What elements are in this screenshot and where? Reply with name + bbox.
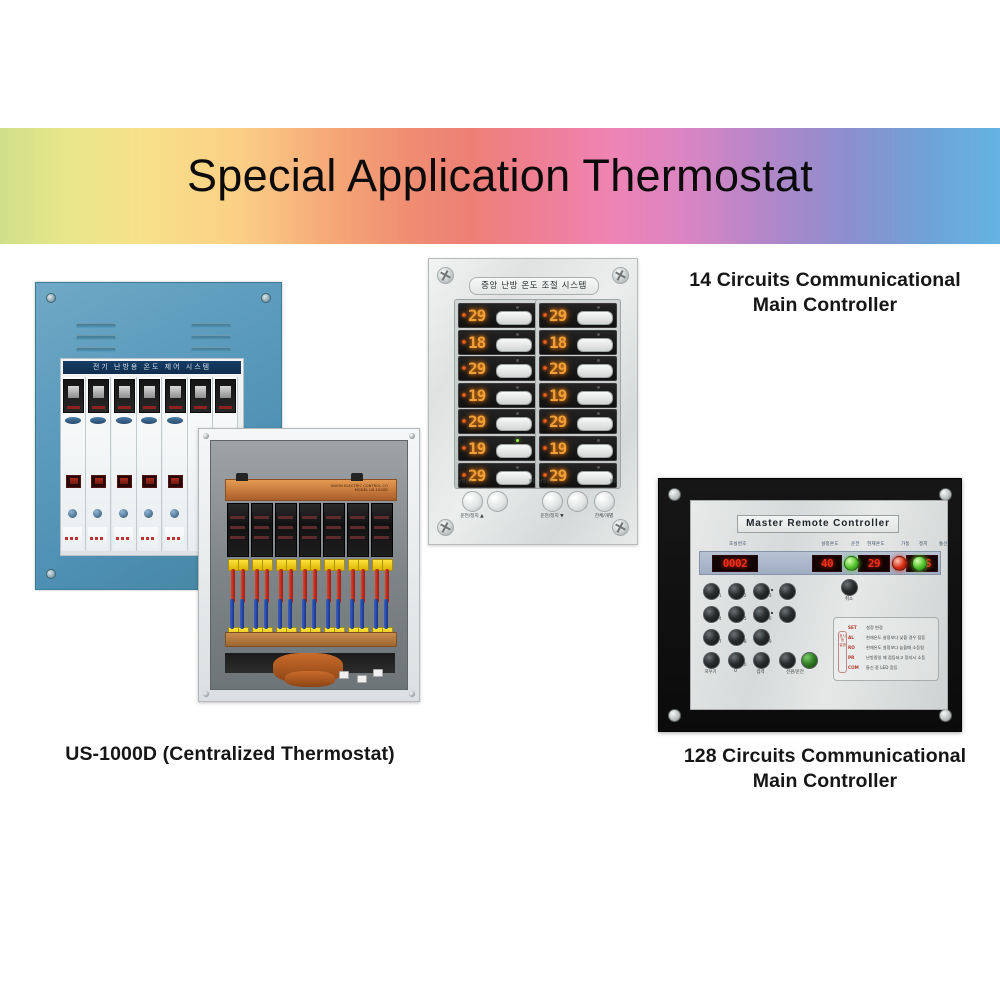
module-knob[interactable]	[144, 509, 153, 518]
relay-module[interactable]	[227, 503, 249, 557]
keypad-button-2[interactable]	[728, 583, 745, 600]
control-button[interactable]	[542, 491, 563, 512]
busbar-text-line2: MODEL US-1000D	[331, 488, 388, 492]
control-button-label: 전체/개별	[582, 513, 626, 519]
module-badge	[65, 417, 81, 424]
vent-louver-icon	[76, 347, 116, 352]
channel-button[interactable]	[577, 417, 613, 431]
temperature-value: 18	[549, 334, 566, 351]
control-button[interactable]	[462, 491, 483, 512]
function-button[interactable]	[841, 579, 858, 596]
display-label: 운전	[851, 541, 860, 547]
caption-128-line1: 128 Circuits Communicational	[650, 744, 1000, 769]
title-banner: Special Application Thermostat	[0, 128, 1000, 244]
temperature-display-row[interactable]: 29	[539, 303, 617, 328]
indicator-dot-icon	[516, 306, 519, 309]
keypad-button-number: 9	[769, 639, 772, 644]
cabinet-interior: UNION ELECTRIC CONTROL CO MODEL US-1000D	[210, 440, 408, 690]
caption-128-line2: Main Controller	[650, 769, 1000, 794]
legend-text: 설정 변경	[866, 625, 883, 631]
module-knob[interactable]	[68, 509, 77, 518]
indicator-dot-icon	[597, 359, 600, 362]
slide-root: Special Application Thermostat 14 Circui…	[0, 0, 1000, 1000]
indicator-dot-icon	[597, 466, 600, 469]
legend-text: 통신 중 LED 점등	[866, 665, 897, 671]
control-button-label: 운전/정지 ▼	[530, 513, 574, 519]
relay-module[interactable]	[371, 503, 393, 557]
red-wire	[255, 569, 259, 603]
screw-icon	[668, 488, 681, 501]
function-button[interactable]	[779, 583, 796, 600]
red-wire	[337, 569, 341, 603]
temperature-value: 29	[468, 360, 485, 377]
module-faceplate[interactable]	[88, 427, 107, 523]
display-column-right: 29182919291929난방온도설정	[535, 299, 621, 489]
breaker-switch[interactable]	[215, 379, 236, 413]
temperature-display-row[interactable]: 29	[458, 303, 536, 328]
product-image-open-cabinet: UNION ELECTRIC CONTROL CO MODEL US-1000D	[198, 428, 420, 702]
module-display	[117, 475, 132, 488]
status-led-icon	[543, 340, 547, 344]
us1000d-module[interactable]	[112, 377, 137, 551]
keypad-button-1[interactable]	[703, 583, 720, 600]
keypad-button-0[interactable]	[728, 652, 745, 669]
red-wire	[351, 569, 355, 603]
legend-key: SET	[848, 625, 860, 630]
keypad-button-9[interactable]	[753, 629, 770, 646]
screw-icon	[939, 709, 952, 722]
wire-harness	[285, 671, 335, 687]
module-badge	[141, 417, 157, 424]
breaker-switch[interactable]	[165, 379, 186, 413]
keypad-button-number: 3	[769, 593, 772, 598]
temperature-value: 19	[549, 440, 566, 457]
screw-icon	[668, 709, 681, 722]
function-button[interactable]	[779, 606, 796, 623]
caption-us1000d: US-1000D (Centralized Thermostat)	[10, 742, 450, 767]
module-knob[interactable]	[119, 509, 128, 518]
function-button[interactable]	[779, 652, 796, 669]
function-button-label: 전원/운전	[775, 669, 815, 675]
module-badge	[167, 417, 183, 424]
screw-icon	[46, 569, 56, 579]
screw-icon	[203, 433, 209, 439]
display-bar: 00024029YES	[699, 551, 941, 575]
temperature-value: 29	[468, 307, 485, 324]
status-led-icon	[462, 340, 466, 344]
red-wire	[361, 569, 365, 603]
master-remote-title: Master Remote Controller	[737, 515, 899, 533]
blue-wire	[240, 599, 244, 629]
legend-side-label: 표시등 설명	[838, 631, 847, 673]
status-led-icon	[462, 419, 466, 423]
breaker-switch[interactable]	[88, 379, 109, 413]
blue-wire	[278, 599, 282, 629]
controller-14-button-row: 운전/정지 ▲운전/정지 ▼전체/개별	[429, 491, 637, 531]
connector-icon	[357, 675, 367, 683]
module-display	[91, 475, 106, 488]
channel-button[interactable]	[496, 391, 532, 405]
keypad-button-6[interactable]	[753, 606, 770, 623]
keypad-label: 0	[724, 669, 747, 674]
module-faceplate[interactable]	[165, 427, 184, 523]
busbar-lug	[236, 473, 248, 481]
channel-button[interactable]	[577, 391, 613, 405]
screw-icon	[46, 293, 56, 303]
channel-button[interactable]	[577, 311, 613, 325]
temperature-value: 19	[549, 387, 566, 404]
channel-button[interactable]	[577, 364, 613, 378]
channel-button[interactable]	[496, 417, 532, 431]
caption-14-line1: 14 Circuits Communicational	[650, 268, 1000, 293]
indicator-dot-icon	[597, 412, 600, 415]
room-number-display: 0002	[712, 555, 758, 572]
module-faceplate[interactable]	[63, 427, 82, 523]
temperature-display-row[interactable]: 19	[458, 383, 536, 408]
page-title: Special Application Thermostat	[0, 150, 1000, 202]
keypad-button-8[interactable]	[728, 629, 745, 646]
temperature-display-row[interactable]: 29	[539, 409, 617, 434]
indicator-dot-icon	[516, 412, 519, 415]
temperature-display-row[interactable]: 29	[458, 409, 536, 434]
red-wire	[231, 569, 235, 603]
red-wire	[303, 569, 307, 603]
indicator-dot-icon	[771, 589, 773, 591]
blue-wire	[288, 599, 292, 629]
keypad-button-number: 0	[744, 662, 747, 667]
cur-temp-display: 29	[858, 555, 890, 572]
vent-louver-icon	[191, 335, 231, 340]
legend-key: RO	[848, 645, 860, 650]
module-footer	[63, 527, 82, 549]
caption-14-circuits: 14 Circuits Communicational Main Control…	[650, 268, 1000, 318]
temperature-value: 29	[468, 413, 485, 430]
red-wire	[241, 569, 245, 603]
lower-busbar	[225, 632, 397, 647]
keypad-button-number: 8	[744, 639, 747, 644]
red-wire	[327, 569, 331, 603]
display-column-footer: 난방온도설정	[539, 478, 617, 486]
blue-wire	[384, 599, 388, 629]
module-knob[interactable]	[170, 509, 179, 518]
temperature-display-row[interactable]: 19	[539, 436, 617, 461]
display-label: 가동	[901, 541, 910, 547]
keypad-button-number: 6	[769, 616, 772, 621]
phillips-screw-icon	[437, 267, 454, 284]
screw-icon	[409, 433, 415, 439]
vent-louver-icon	[76, 323, 116, 328]
keypad-button-number: 7	[719, 639, 722, 644]
indicator-dot-icon	[516, 466, 519, 469]
vent-louver-icon	[191, 347, 231, 352]
status-led-icon	[543, 419, 547, 423]
module-footer	[114, 527, 133, 549]
indicator-dot-icon	[597, 439, 600, 442]
breaker-switch[interactable]	[139, 379, 160, 413]
screw-icon	[261, 293, 271, 303]
keypad-button-7[interactable]	[703, 629, 720, 646]
status-led-icon	[462, 446, 466, 450]
status-led-icon	[543, 366, 547, 370]
red-wire	[385, 569, 389, 603]
indicator-dot-icon	[597, 333, 600, 336]
status-led-icon	[462, 473, 466, 477]
footer-left-label: 난방온도	[539, 478, 554, 486]
breaker-switch[interactable]	[190, 379, 211, 413]
control-button[interactable]	[567, 491, 588, 512]
us1000d-module[interactable]	[137, 377, 162, 551]
red-wire	[375, 569, 379, 603]
temperature-display-row[interactable]: 29	[458, 356, 536, 381]
keypad-button[interactable]	[703, 652, 720, 669]
keypad-button[interactable]	[753, 652, 770, 669]
connector-icon	[339, 671, 349, 679]
indicator-dot-icon	[516, 359, 519, 362]
channel-button[interactable]	[577, 444, 613, 458]
display-label: 현재온도	[867, 541, 885, 547]
blue-wire	[302, 599, 306, 629]
status-led-icon	[543, 446, 547, 450]
screw-icon	[203, 691, 209, 697]
legend-key: AL	[848, 635, 860, 640]
channel-button[interactable]	[496, 364, 532, 378]
blue-wire	[230, 599, 234, 629]
temperature-value: 18	[468, 334, 485, 351]
product-image-128-circuit-controller: Master Remote Controller 호실번호설정온도운전현재온도가…	[658, 478, 962, 732]
blue-wire	[374, 599, 378, 629]
legend-box: 표시등 설명 SET설정 변경AL현재온도 설정보다 낮을 경우 점등RO현재온…	[833, 617, 939, 681]
blue-wire	[326, 599, 330, 629]
module-display	[142, 475, 157, 488]
cancel-button-label: 취소	[831, 596, 867, 602]
module-knob[interactable]	[93, 509, 102, 518]
vent-louver-icon	[191, 323, 231, 328]
channel-button[interactable]	[496, 338, 532, 352]
us1000d-module[interactable]	[163, 377, 188, 551]
relay-module[interactable]	[347, 503, 369, 557]
display-label: 통신	[939, 541, 948, 547]
vent-louver-icon	[76, 335, 116, 340]
blue-wire	[312, 599, 316, 629]
legend-text: 현재온도 설정보다 높을때 소등됨	[866, 645, 924, 651]
module-footer	[165, 527, 184, 549]
indicator-dot-icon	[597, 306, 600, 309]
status-led-icon	[543, 313, 547, 317]
channel-button[interactable]	[496, 311, 532, 325]
temperature-value: 29	[549, 307, 566, 324]
blue-wire	[350, 599, 354, 629]
module-faceplate[interactable]	[114, 427, 133, 523]
temperature-display-row[interactable]: 19	[539, 383, 617, 408]
us1000d-panel-header: 전기 난방용 온도 제어 시스템	[63, 361, 241, 374]
module-footer	[88, 527, 107, 549]
product-image-14-circuit-controller: 중앙 난방 온도 조절 시스템 29182919291929난방온도설정 291…	[428, 258, 638, 545]
blue-wire	[264, 599, 268, 629]
legend-text: 난방중일 때 점등되고 정지시 소등	[866, 655, 925, 661]
blue-wire	[360, 599, 364, 629]
display-column-left: 29182919291929난방온도설정	[454, 299, 540, 489]
relay-module[interactable]	[299, 503, 321, 557]
indicator-dot-icon	[516, 386, 519, 389]
relay-module[interactable]	[275, 503, 297, 557]
connector-icon	[373, 669, 383, 677]
copper-busbar: UNION ELECTRIC CONTROL CO MODEL US-1000D	[225, 479, 397, 501]
status-led-icon	[462, 393, 466, 397]
keypad-label: 입력	[749, 669, 772, 675]
red-wire	[265, 569, 269, 603]
red-wire	[313, 569, 317, 603]
keypad-button-4[interactable]	[703, 606, 720, 623]
phillips-screw-icon	[612, 267, 629, 284]
run-lamp-icon	[844, 556, 859, 571]
relay-module[interactable]	[323, 503, 345, 557]
stop-lamp-icon	[892, 556, 907, 571]
display-labels-row: 호실번호설정온도운전현재온도가동정지통신	[691, 541, 947, 549]
module-display	[168, 475, 183, 488]
set-temp-display: 40	[812, 555, 842, 572]
footer-left-label: 난방온도	[458, 478, 473, 486]
keypad-button-number: 2	[744, 593, 747, 598]
us1000d-module[interactable]	[86, 377, 111, 551]
indicator-dot-icon	[771, 612, 773, 614]
legend-key: PR	[848, 655, 860, 660]
display-label: 정지	[919, 541, 928, 547]
comm-lamp-icon	[912, 556, 927, 571]
module-badge	[90, 417, 106, 424]
module-footer	[139, 527, 158, 549]
caption-14-line2: Main Controller	[650, 293, 1000, 318]
blue-wire	[336, 599, 340, 629]
breaker-switch[interactable]	[63, 379, 84, 413]
legend-key: COM	[848, 665, 860, 670]
temperature-value: 19	[468, 440, 485, 457]
relay-module[interactable]	[251, 503, 273, 557]
keypad-button-3[interactable]	[753, 583, 770, 600]
keypad-button-number: 4	[719, 616, 722, 621]
footer-right-label: 설정	[610, 478, 617, 486]
module-faceplate[interactable]	[139, 427, 158, 523]
us1000d-module[interactable]	[61, 377, 86, 551]
screw-icon	[409, 691, 415, 697]
indicator-dot-icon	[597, 386, 600, 389]
indicator-dot-icon	[516, 439, 519, 442]
function-button[interactable]	[801, 652, 818, 669]
temperature-display-row[interactable]: 29	[539, 356, 617, 381]
temperature-value: 19	[468, 387, 485, 404]
breaker-switch[interactable]	[114, 379, 135, 413]
caption-128-circuits: 128 Circuits Communicational Main Contro…	[650, 744, 1000, 794]
temperature-display-row[interactable]: 19	[458, 436, 536, 461]
indicator-dot-icon	[516, 333, 519, 336]
keypad-button-number: 5	[744, 616, 747, 621]
display-column-footer: 난방온도설정	[458, 478, 536, 486]
temperature-value: 29	[549, 413, 566, 430]
red-wire	[279, 569, 283, 603]
master-remote-face: Master Remote Controller 호실번호설정온도운전현재온도가…	[690, 500, 948, 710]
keypad-button-number: 1	[719, 593, 722, 598]
busbar-lug	[351, 473, 363, 481]
red-wire	[289, 569, 293, 603]
status-led-icon	[462, 366, 466, 370]
controller-14-badge: 중앙 난방 온도 조절 시스템	[469, 277, 599, 295]
busbar-nameplate: UNION ELECTRIC CONTROL CO MODEL US-1000D	[331, 484, 388, 492]
module-badge	[116, 417, 132, 424]
temperature-value: 29	[549, 360, 566, 377]
module-display	[66, 475, 81, 488]
legend-text: 현재온도 설정보다 낮을 경우 점등	[866, 635, 925, 641]
control-button[interactable]	[487, 491, 508, 512]
temperature-display-row[interactable]: 18	[539, 330, 617, 355]
control-button[interactable]	[594, 491, 615, 512]
temperature-display-row[interactable]: 18	[458, 330, 536, 355]
status-led-icon	[462, 313, 466, 317]
status-led-icon	[543, 473, 547, 477]
blue-wire	[254, 599, 258, 629]
keypad-label: 지우기	[699, 669, 722, 675]
control-button-label: 운전/정지 ▲	[450, 513, 494, 519]
keypad-button-5[interactable]	[728, 606, 745, 623]
channel-button[interactable]	[577, 338, 613, 352]
channel-button[interactable]	[496, 444, 532, 458]
display-label: 설정온도	[821, 541, 839, 547]
display-label: 호실번호	[729, 541, 747, 547]
status-led-icon	[543, 393, 547, 397]
